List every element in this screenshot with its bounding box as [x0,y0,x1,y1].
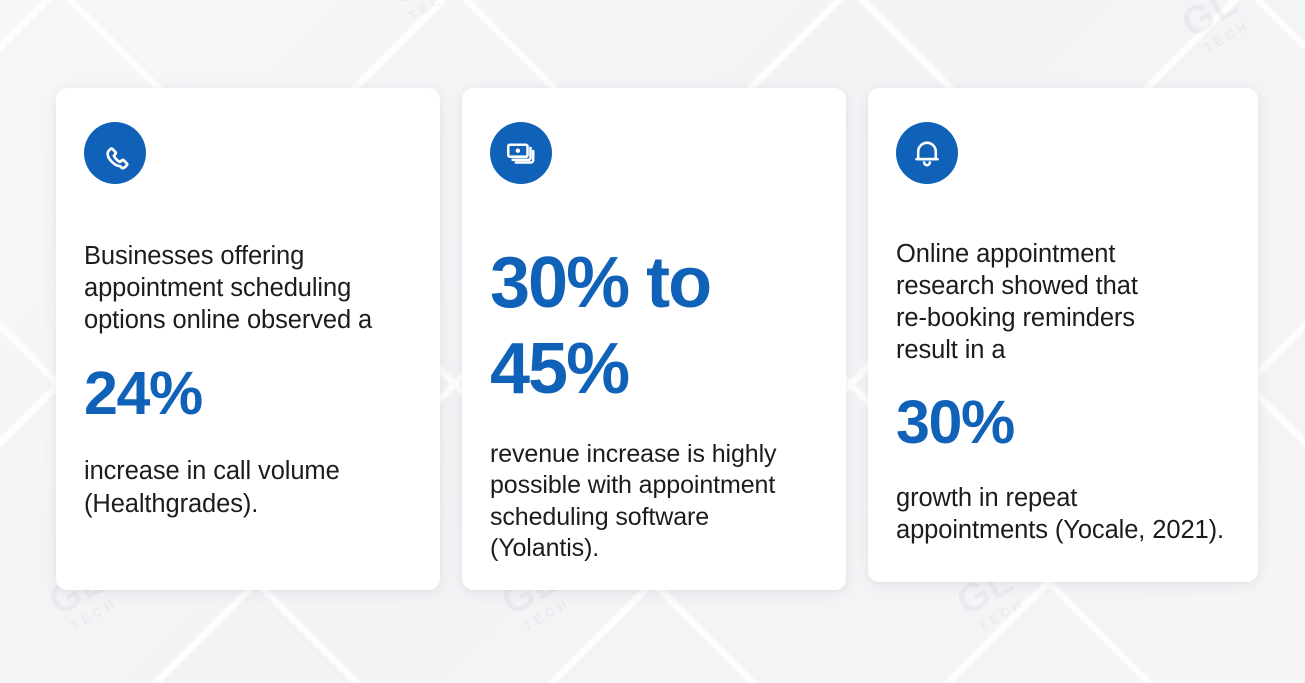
card-content: 30% to 45% revenue increase is highly po… [490,240,814,565]
bell-icon [896,122,958,184]
watermark-sub: TECH [976,596,1027,633]
stat-card: Online appointment research showed that … [868,88,1258,582]
watermark-main: GL [380,0,450,13]
watermark: GL TECH [1175,0,1252,58]
card-tail-text: increase in call volume (Healthgrades). [84,455,408,519]
watermark-sub: TECH [406,0,457,23]
card-tail-text: growth in repeat appointments (Yocale, 2… [896,482,1226,546]
infographic-canvas: GL TECH GL TECH GL TECH GL TECH GL TECH … [0,0,1305,683]
card-stat-value: 24% [84,360,408,427]
watermark-main: GL [1175,0,1245,45]
watermark-sub: TECH [68,596,119,633]
banknotes-icon [490,122,552,184]
card-lead-text: Businesses offering appointment scheduli… [84,240,408,336]
card-stat-value: 30% [896,389,1226,456]
watermark-sub: TECH [521,596,572,633]
card-content: Businesses offering appointment scheduli… [84,240,408,520]
stat-card: 30% to 45% revenue increase is highly po… [462,88,846,590]
card-tail-text: revenue increase is highly possible with… [490,439,814,565]
card-stat-value: 30% to 45% [490,240,814,413]
card-lead-text: Online appointment research showed that … [896,238,1226,367]
card-content: Online appointment research showed that … [896,238,1226,546]
stat-card: Businesses offering appointment scheduli… [56,88,440,590]
watermark-sub: TECH [1201,18,1252,55]
stat-card-row: Businesses offering appointment scheduli… [56,88,1258,590]
watermark: GL TECH [380,0,457,26]
phone-icon [84,122,146,184]
